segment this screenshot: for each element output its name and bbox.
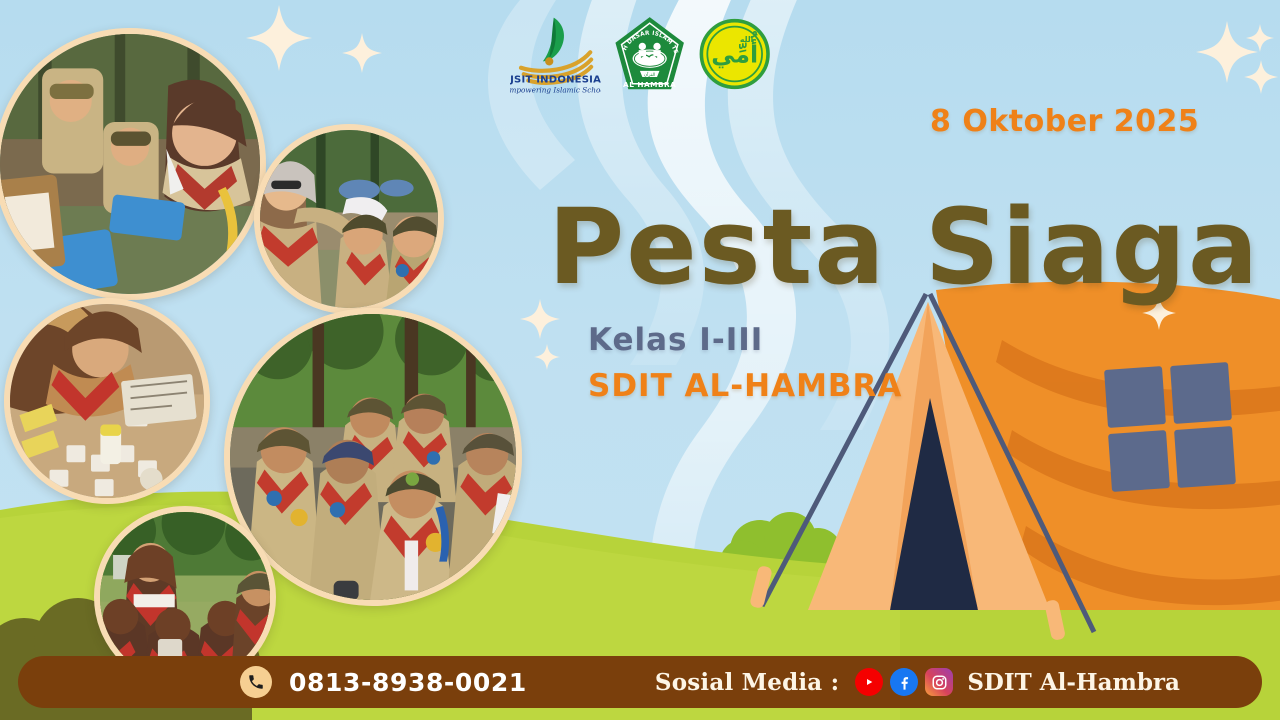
svg-text:الله: الله <box>740 35 753 44</box>
social-media-group: Sosial Media : SDIT Al-Hambra <box>655 668 1180 696</box>
youtube-icon[interactable] <box>855 668 883 696</box>
photo-scouts-with-worksheets <box>0 28 266 300</box>
grade-subtitle: Kelas I-III <box>588 322 763 358</box>
svg-text:Empowering Islamic School: Empowering Islamic School <box>510 85 601 94</box>
contact-footer-bar: 0813-8938-0021 Sosial Media : <box>18 656 1262 708</box>
ummi-arabic-seal-logo: أُمِّي الله <box>699 17 770 91</box>
school-name: SDIT AL-HAMBRA <box>588 368 902 404</box>
sparkle-top-left-small <box>342 30 382 76</box>
sparkle-top-right-mini <box>1244 58 1278 96</box>
social-icon-list <box>855 668 953 696</box>
poster-canvas: JSIT INDONESIA Empowering Islamic School… <box>0 0 1280 720</box>
event-date: 8 Oktober 2025 <box>930 104 1199 139</box>
svg-text:AL HAMBRA: AL HAMBRA <box>623 80 676 89</box>
camping-tent-illustration <box>740 280 1280 670</box>
sparkle-mid-left-small <box>534 342 560 372</box>
svg-text:JSIT INDONESIA: JSIT INDONESIA <box>510 74 601 85</box>
photo-student-craft-activity <box>4 298 210 504</box>
phone-number: 0813-8938-0021 <box>289 668 527 697</box>
sparkle-top-right-small <box>1246 22 1274 54</box>
facebook-icon[interactable] <box>890 668 918 696</box>
jsit-indonesia-logo: JSIT INDONESIA Empowering Islamic School <box>510 14 601 96</box>
page-title: Pesta Siaga <box>548 186 1260 308</box>
phone-contact[interactable]: 0813-8938-0021 <box>240 666 527 698</box>
sdit-al-hambra-shield-logo: SEKOLAH DASAR ISLAM TERPADU القرآن AL HA… <box>613 14 686 96</box>
phone-icon <box>240 666 272 698</box>
social-media-label: Sosial Media : <box>655 669 839 696</box>
svg-text:القرآن: القرآن <box>644 72 655 78</box>
photo-teacher-with-students <box>254 124 444 314</box>
logo-row: JSIT INDONESIA Empowering Islamic School… <box>510 14 770 102</box>
instagram-icon[interactable] <box>925 668 953 696</box>
social-handle: SDIT Al-Hambra <box>967 669 1180 696</box>
